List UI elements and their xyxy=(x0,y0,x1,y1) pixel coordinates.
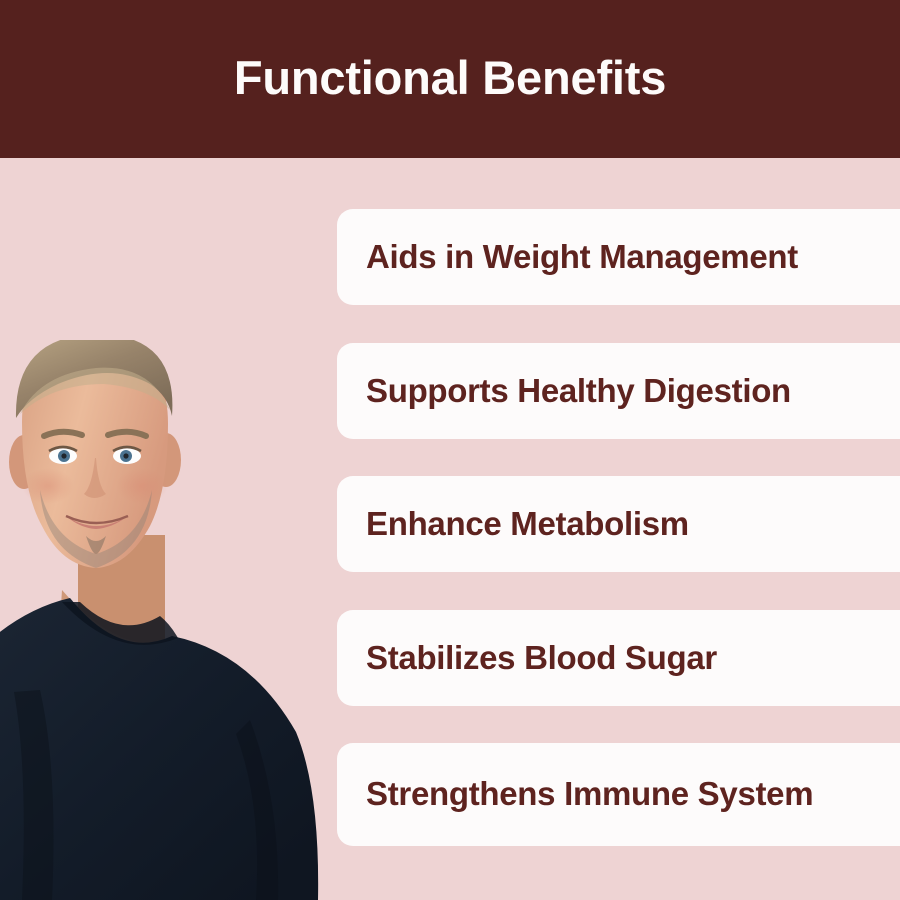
benefit-pill-label: Supports Healthy Digestion xyxy=(366,374,791,409)
benefit-pill-label: Enhance Metabolism xyxy=(366,507,689,542)
benefit-pill-label: Stabilizes Blood Sugar xyxy=(366,641,717,676)
benefit-pill[interactable]: Aids in Weight Management xyxy=(337,209,900,305)
poster-canvas: Functional Benefits xyxy=(0,0,900,900)
benefit-pill[interactable]: Supports Healthy Digestion xyxy=(337,343,900,439)
benefit-pill[interactable]: Stabilizes Blood Sugar xyxy=(337,610,900,706)
benefit-pill[interactable]: Strengthens Immune System xyxy=(337,743,900,846)
benefit-pill[interactable]: Enhance Metabolism xyxy=(337,476,900,572)
person-portrait-photo xyxy=(0,340,330,900)
benefit-pill-label: Strengthens Immune System xyxy=(366,777,813,812)
benefits-list: Aids in Weight Management Supports Healt… xyxy=(337,0,900,900)
benefit-pill-label: Aids in Weight Management xyxy=(366,240,798,275)
